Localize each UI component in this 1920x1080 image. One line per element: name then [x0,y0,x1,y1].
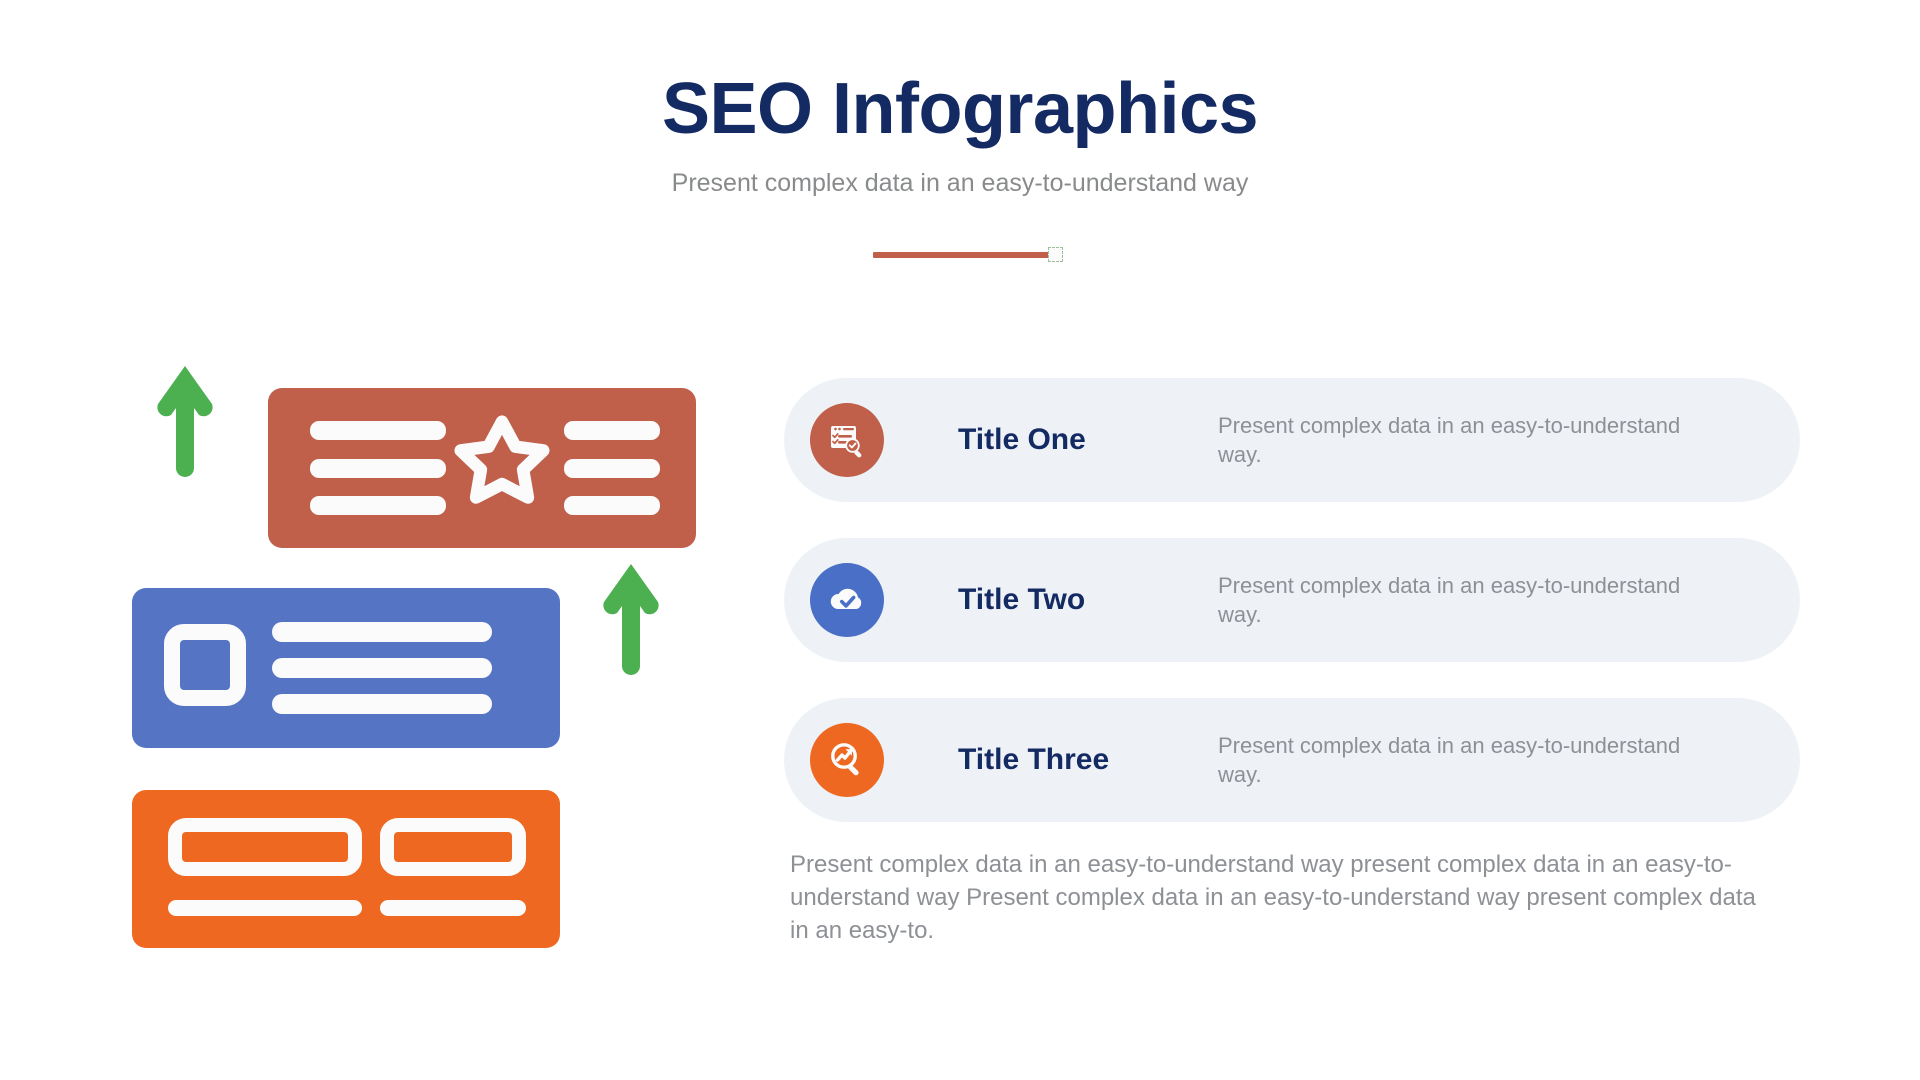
list-item[interactable]: Title Three Present complex data in an e… [784,698,1800,822]
list-item[interactable]: Title Two Present complex data in an eas… [784,538,1800,662]
block-outline [380,818,526,876]
search-growth-icon [810,723,884,797]
card-line [272,622,492,642]
slide-canvas: SEO Infographics Present complex data in… [0,0,1920,1080]
growth-arrow-up-2-icon [598,558,664,678]
feature-list: Title One Present complex data in an eas… [784,378,1800,858]
card-line [564,496,660,515]
list-item-title: Title One [958,423,1188,457]
image-placeholder-icon [164,624,246,706]
list-item-title: Title Two [958,583,1188,617]
star-icon [454,414,550,510]
card-line [564,421,660,440]
list-item-description: Present complex data in an easy-to-under… [1218,731,1718,789]
card-line [564,459,660,478]
ranking-card [268,388,696,548]
list-item-description: Present complex data in an easy-to-under… [1218,571,1718,629]
cloud-check-icon [810,563,884,637]
growth-arrow-up-1-icon [152,360,218,480]
list-item-description: Present complex data in an easy-to-under… [1218,411,1718,469]
card-line [310,459,446,478]
block-outline [168,818,362,876]
layout-card [132,790,560,948]
page-subtitle: Present complex data in an easy-to-under… [0,169,1920,198]
card-line [310,496,446,515]
card-line [272,658,492,678]
seo-audit-checklist-icon [810,403,884,477]
content-card [132,588,560,748]
header: SEO Infographics Present complex data in… [0,70,1920,198]
card-line [272,694,492,714]
list-item-title: Title Three [958,743,1188,777]
accent-divider [873,252,1053,258]
card-line [310,421,446,440]
list-item[interactable]: Title One Present complex data in an eas… [784,378,1800,502]
footer-paragraph: Present complex data in an easy-to-under… [790,848,1770,947]
card-line [380,900,526,916]
page-title: SEO Infographics [0,70,1920,149]
seo-illustration [0,340,760,1000]
card-line [168,900,362,916]
selection-handle[interactable] [1048,247,1063,262]
